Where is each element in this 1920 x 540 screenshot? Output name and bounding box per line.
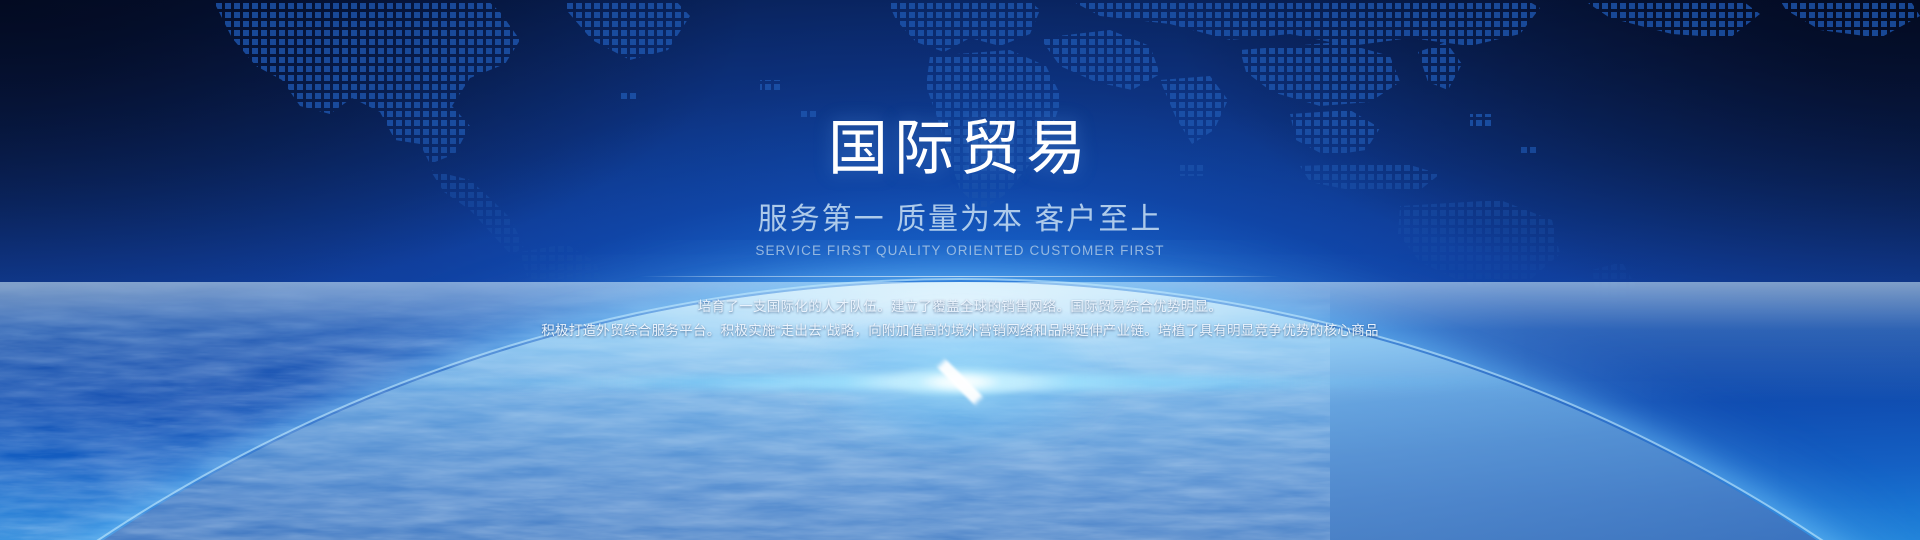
description-line-1: 培育了一支国际化的人才队伍。建立了覆盖全球的销售网络。国际贸易综合优势明显。 [698,296,1222,317]
subtitle-english: SERVICE FIRST QUALITY ORIENTED CUSTOMER … [755,244,1164,258]
description-line-2: 积极打造外贸综合服务平台。积极实施“走出去”战略，向附加值高的境外营销网络和品牌… [541,320,1379,341]
banner-content: 国际贸易 服务第一 质量为本 客户至上 SERVICE FIRST QUALIT… [0,0,1920,540]
international-trade-banner: 国际贸易 服务第一 质量为本 客户至上 SERVICE FIRST QUALIT… [0,0,1920,540]
page-title: 国际贸易 [828,119,1092,179]
divider [640,276,1280,277]
subtitle-chinese: 服务第一 质量为本 客户至上 [758,205,1163,235]
